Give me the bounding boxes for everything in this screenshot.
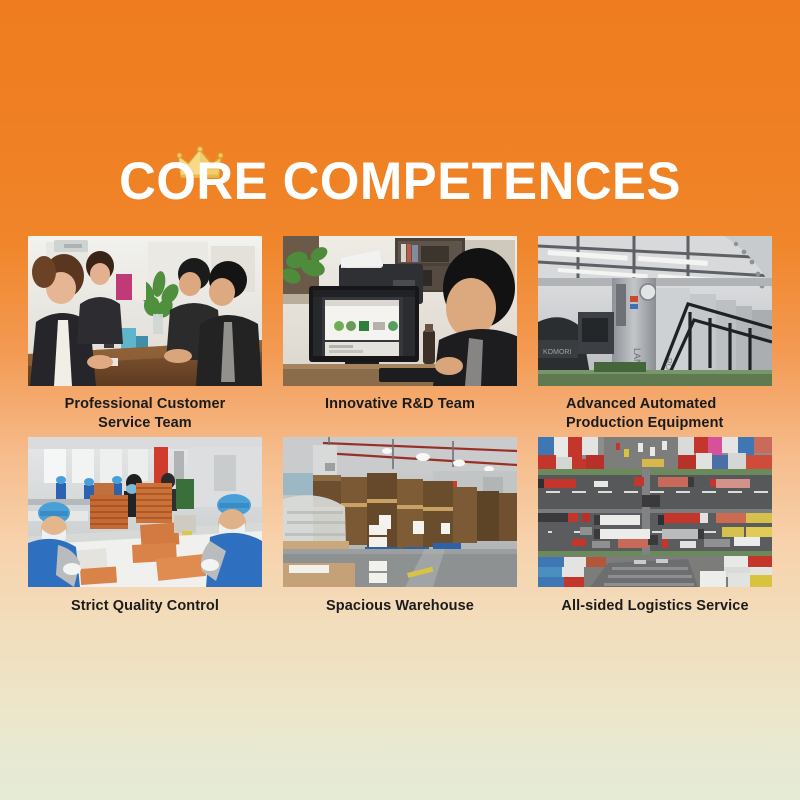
printing-press-illustration: LAND 800 ROLAND KOMORI [538, 236, 772, 386]
caption-spacious-warehouse: Spacious Warehouse [283, 597, 517, 616]
competences-row-1: Professional Customer Service Team [28, 236, 772, 433]
photo-logistics-port [538, 437, 772, 587]
card-advanced-automated-production-equipment[interactable]: LAND 800 ROLAND KOMORI [538, 236, 772, 433]
competences-grid: Professional Customer Service Team [28, 236, 772, 616]
svg-text:KOMORI: KOMORI [543, 349, 571, 356]
competences-row-2: Strict Quality Control [28, 437, 772, 616]
warehouse-illustration [283, 437, 517, 587]
photo-production-equipment: LAND 800 ROLAND KOMORI [538, 236, 772, 386]
caption-line-2: Production Equipment [566, 415, 723, 431]
title-block: CORE COMPETENCES [0, 152, 800, 212]
caption-professional-customer-service-team: Professional Customer Service Team [28, 395, 262, 433]
card-professional-customer-service-team[interactable]: Professional Customer Service Team [28, 236, 262, 433]
photo-quality-control [28, 437, 262, 587]
caption-line-1: Advanced Automated [566, 396, 716, 412]
caption-advanced-automated-production-equipment: Advanced Automated Production Equipment [538, 395, 772, 433]
card-innovative-rd-team[interactable]: Innovative R&D Team [283, 236, 517, 433]
photo-customer-service-meeting [28, 236, 262, 386]
card-spacious-warehouse[interactable]: Spacious Warehouse [283, 437, 517, 616]
photo-rd-designer [283, 236, 517, 386]
core-competences-poster: CORE COMPETENCES [0, 0, 800, 800]
card-strict-quality-control[interactable]: Strict Quality Control [28, 437, 262, 616]
quality-inspection-illustration [28, 437, 262, 587]
caption-line-2: Service Team [98, 415, 192, 431]
photo-warehouse [283, 437, 517, 587]
caption-innovative-rd-team: Innovative R&D Team [283, 395, 517, 414]
meeting-room-illustration [28, 236, 262, 386]
designer-workstation-illustration [283, 236, 517, 386]
caption-line-1: Professional Customer [65, 396, 226, 412]
aerial-logistics-illustration [538, 437, 772, 587]
caption-all-sided-logistics-service: All-sided Logistics Service [538, 597, 772, 616]
caption-strict-quality-control: Strict Quality Control [28, 597, 262, 616]
page-title: CORE COMPETENCES [16, 152, 784, 212]
card-all-sided-logistics-service[interactable]: All-sided Logistics Service [538, 437, 772, 616]
